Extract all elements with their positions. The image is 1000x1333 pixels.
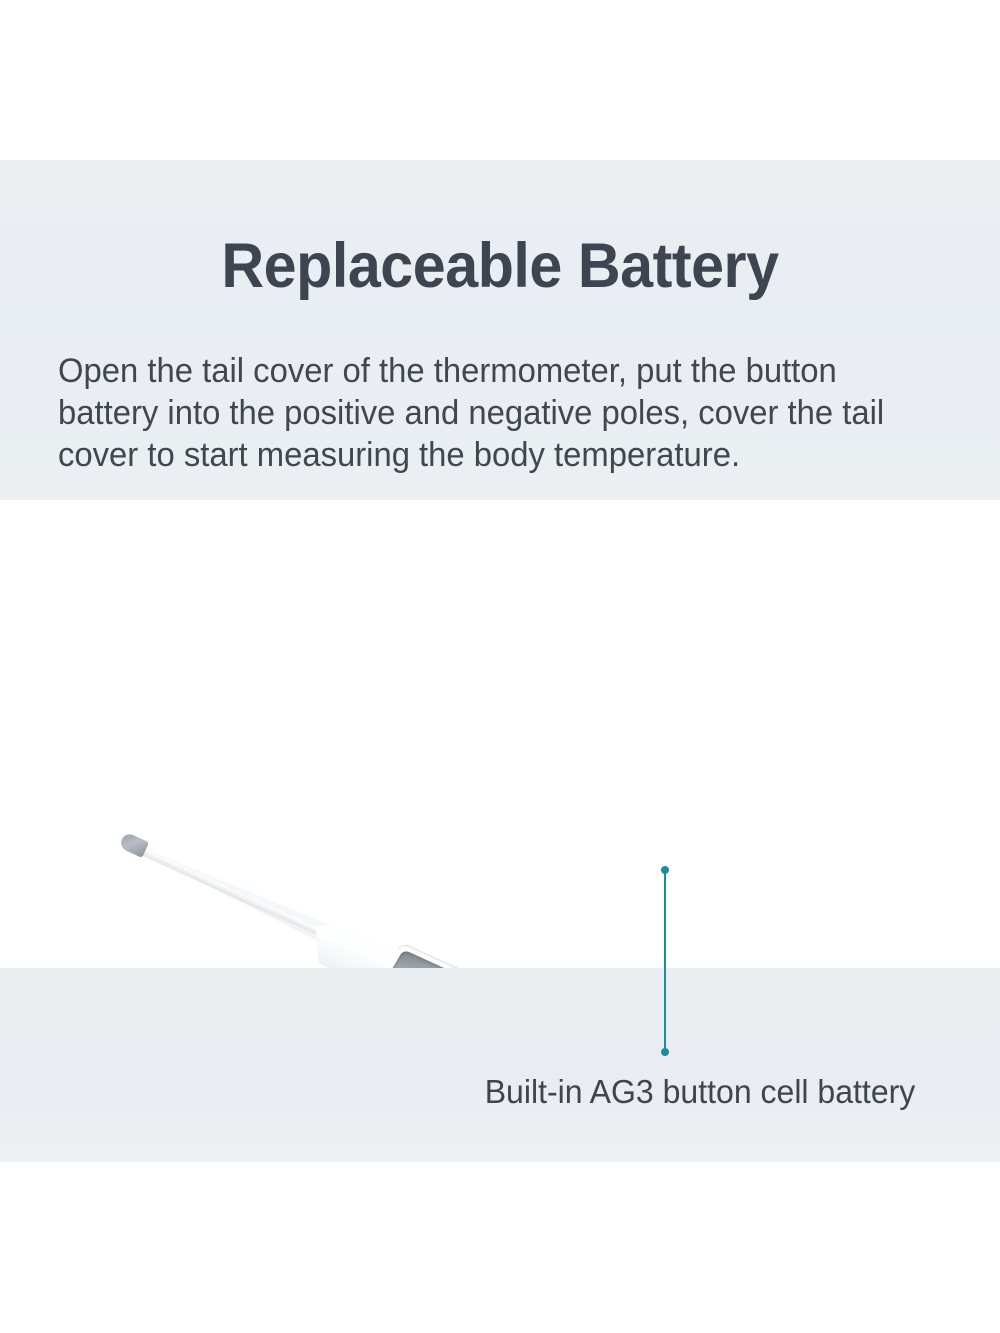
battery-caption: Built-in AG3 button cell battery xyxy=(409,1072,991,1112)
description-text: Open the tail cover of the thermometer, … xyxy=(58,350,927,476)
page-title: Replaceable Battery xyxy=(30,232,970,300)
thermometer-assembly xyxy=(98,804,702,968)
product-infographic-page: Replaceable Battery Open the tail cover … xyxy=(0,0,1000,1333)
background-band-top xyxy=(0,0,1000,160)
background-band-caption xyxy=(0,968,1000,1162)
battery-callout-line xyxy=(663,866,667,1056)
callout-dot-bottom-icon xyxy=(661,1048,669,1056)
callout-stem xyxy=(664,870,666,1052)
background-band-bottom xyxy=(0,1162,1000,1333)
product-photo xyxy=(0,500,1000,968)
probe-shading xyxy=(141,849,333,942)
